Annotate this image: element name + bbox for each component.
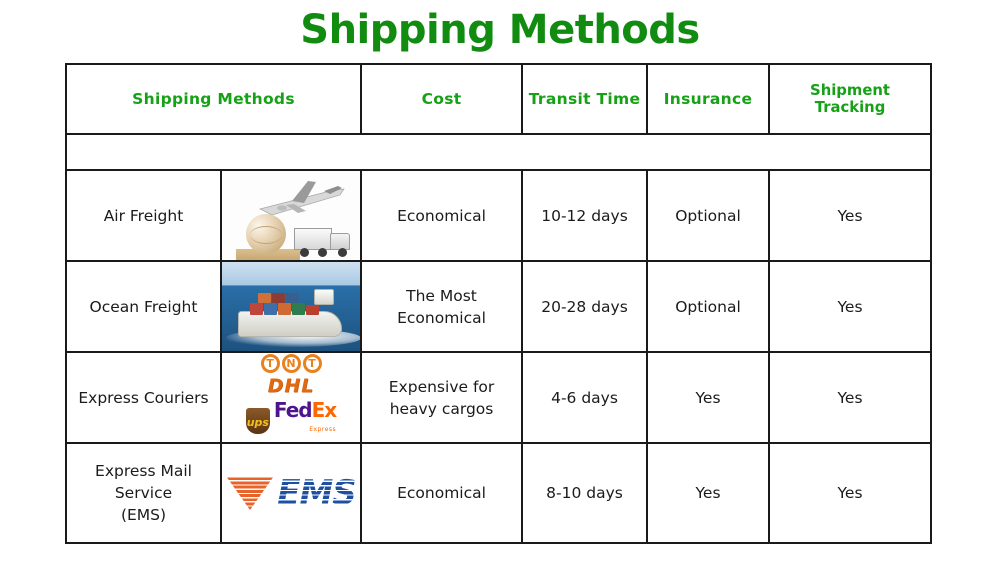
method-line-2: Service xyxy=(71,482,216,504)
fedex-fed: Fed xyxy=(274,398,312,422)
ups-logo: ups xyxy=(246,408,270,434)
cell-cost: Economical xyxy=(361,443,522,543)
container xyxy=(272,293,285,303)
cell-method: Express Mail Service (EMS) xyxy=(66,443,221,543)
cell-insurance: Yes xyxy=(647,443,769,543)
header-shipping-methods: Shipping Methods xyxy=(66,64,361,134)
container xyxy=(250,303,263,315)
header-shipment-tracking: Shipment Tracking xyxy=(769,64,931,134)
tnt-letter: T xyxy=(261,354,280,373)
ems-triangle-icon xyxy=(226,476,274,510)
globe-icon xyxy=(246,214,286,254)
ems-wordmark: EMS xyxy=(277,476,356,510)
cell-tracking: Yes xyxy=(769,352,931,443)
ocean-freight-photo xyxy=(222,262,360,351)
container xyxy=(306,305,319,315)
cell-transit-time: 20-28 days xyxy=(522,261,647,352)
airplane-icon xyxy=(252,179,348,219)
ems-logo: EMS xyxy=(222,444,360,542)
cell-method-image: T N T DHL ups FedEx Express xyxy=(221,352,361,443)
cost-line-1: Economical xyxy=(366,482,517,504)
header-transit-time: Transit Time xyxy=(522,64,647,134)
table-row: Express Couriers T N T DHL ups xyxy=(66,352,931,443)
tnt-letter: T xyxy=(303,354,322,373)
courier-logos: T N T DHL ups FedEx Express xyxy=(222,353,360,442)
cell-method-image: EMS xyxy=(221,443,361,543)
truck-wheel xyxy=(300,248,309,257)
table-spacer-row xyxy=(66,134,931,170)
cell-cost: Expensive for heavy cargos xyxy=(361,352,522,443)
cost-line-2: heavy cargos xyxy=(366,398,517,420)
cell-transit-time: 4-6 days xyxy=(522,352,647,443)
truck-wheel xyxy=(338,248,347,257)
cell-tracking: Yes xyxy=(769,443,931,543)
sky xyxy=(222,262,360,285)
table-row: Ocean Freight xyxy=(66,261,931,352)
table-row: Express Mail Service (EMS) EMS Economica… xyxy=(66,443,931,543)
cell-insurance: Yes xyxy=(647,352,769,443)
fedex-wordmark: FedEx xyxy=(274,400,336,420)
cell-tracking: Yes xyxy=(769,170,931,261)
fedex-logo: FedEx Express xyxy=(274,400,336,441)
ship-bridge xyxy=(314,289,334,305)
header-insurance: Insurance xyxy=(647,64,769,134)
cell-cost: The Most Economical xyxy=(361,261,522,352)
cell-tracking: Yes xyxy=(769,261,931,352)
cell-method-image xyxy=(221,261,361,352)
ups-fedex-group: ups FedEx Express xyxy=(246,400,336,441)
truck-body xyxy=(294,228,332,250)
container xyxy=(264,303,277,315)
cost-line-1: Economical xyxy=(366,205,517,227)
dhl-logo: DHL xyxy=(268,375,315,397)
shipping-methods-table: Shipping Methods Cost Transit Time Insur… xyxy=(65,63,932,544)
container xyxy=(286,293,299,303)
cell-method: Air Freight xyxy=(66,170,221,261)
container xyxy=(292,303,305,315)
air-freight-photo xyxy=(222,171,360,260)
page-title: Shipping Methods xyxy=(0,4,1000,56)
cost-line-1: Expensive for xyxy=(366,376,517,398)
cell-method: Ocean Freight xyxy=(66,261,221,352)
document-page: Shipping Methods Shipping Methods Cost T… xyxy=(0,0,1000,585)
cell-method: Express Couriers xyxy=(66,352,221,443)
method-line-1: Express Mail xyxy=(71,460,216,482)
cell-transit-time: 10-12 days xyxy=(522,170,647,261)
truck-wheel xyxy=(318,248,327,257)
cell-method-image xyxy=(221,170,361,261)
table-header-row: Shipping Methods Cost Transit Time Insur… xyxy=(66,64,931,134)
spacer-cell xyxy=(66,134,931,170)
container xyxy=(278,303,291,315)
container xyxy=(258,293,271,303)
fedex-subtitle: Express xyxy=(309,419,336,441)
tnt-logo: T N T xyxy=(261,354,322,373)
tnt-letter: N xyxy=(282,354,301,373)
cell-transit-time: 8-10 days xyxy=(522,443,647,543)
cell-insurance: Optional xyxy=(647,261,769,352)
cost-line-1: The Most xyxy=(366,285,517,307)
cell-cost: Economical xyxy=(361,170,522,261)
method-line-3: (EMS) xyxy=(71,504,216,526)
cell-insurance: Optional xyxy=(647,170,769,261)
header-cost: Cost xyxy=(361,64,522,134)
cost-line-2: Economical xyxy=(366,307,517,329)
table-row: Air Freight xyxy=(66,170,931,261)
